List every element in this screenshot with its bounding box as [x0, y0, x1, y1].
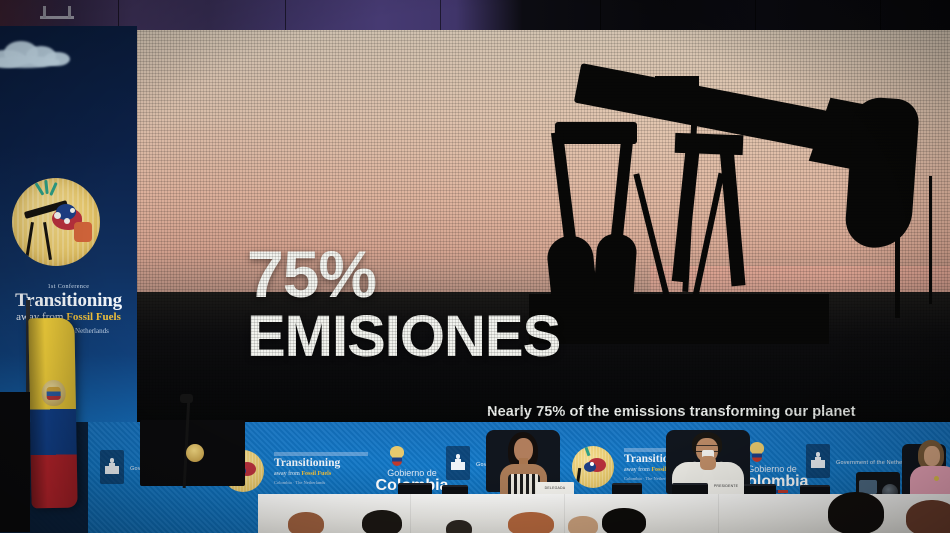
- main-led-screen: 75% EMISIONES Nearly 75% of the emission…: [137, 30, 950, 422]
- backdrop-conf-sub-1: away from Fossil Fuels: [274, 471, 331, 477]
- lighting-truss-icon: [40, 6, 74, 24]
- conference-stage-photo: 1st Conference Transitioning away from F…: [0, 0, 950, 533]
- audience-head: [906, 500, 950, 533]
- left-panel-subtitle-bold: Fossil Fuels: [66, 311, 121, 323]
- left-stage-monitor: [0, 392, 30, 532]
- nameplate-woman-text: DELEGADA: [536, 482, 574, 490]
- backdrop-conf-title-1: Transitioning: [274, 457, 340, 469]
- left-panel-title: Transitioning: [0, 290, 137, 312]
- screen-headline-number: 75%: [247, 244, 376, 305]
- podium-crest-icon: [186, 444, 204, 462]
- cloud-icon: [0, 38, 82, 68]
- ceiling-lighting-band: [0, 0, 950, 32]
- audience-head: [362, 510, 402, 533]
- netherlands-logo-block-2: [446, 446, 470, 480]
- audience-head: [508, 512, 554, 533]
- backdrop-conf-sub-bold-1: Fossil Fuels: [301, 471, 331, 477]
- oil-pumpjack-icon: [529, 76, 949, 342]
- netherlands-logo-block-1: [100, 450, 124, 484]
- netherlands-crest-icon: [105, 458, 119, 476]
- face: [924, 446, 940, 466]
- nameplate-man-text: PRESIDENTE: [708, 480, 744, 488]
- audience-head: [288, 512, 324, 533]
- backdrop-conf-sub-lead-1: away from: [274, 471, 301, 477]
- microphone-icon: [180, 394, 193, 403]
- colombia-shield-icon: [386, 444, 408, 468]
- netherlands-crest-icon: [811, 452, 825, 470]
- audience-head: [602, 508, 646, 533]
- netherlands-logo-block-3: [806, 444, 830, 478]
- conference-logo-icon: [12, 178, 100, 266]
- audience-head: [446, 520, 472, 533]
- screen-headline-word: EMISIONES: [247, 310, 560, 363]
- screen-caption: Nearly 75% of the emissions transforming…: [487, 404, 856, 420]
- backdrop-conf-sub-lead-2: away from: [624, 467, 651, 473]
- colombia-flag: [28, 318, 77, 509]
- netherlands-crest-icon: [451, 454, 465, 472]
- audience-head: [828, 492, 884, 533]
- hand: [700, 456, 716, 470]
- audience-head: [568, 516, 598, 533]
- lapel-pin-icon: [934, 476, 939, 481]
